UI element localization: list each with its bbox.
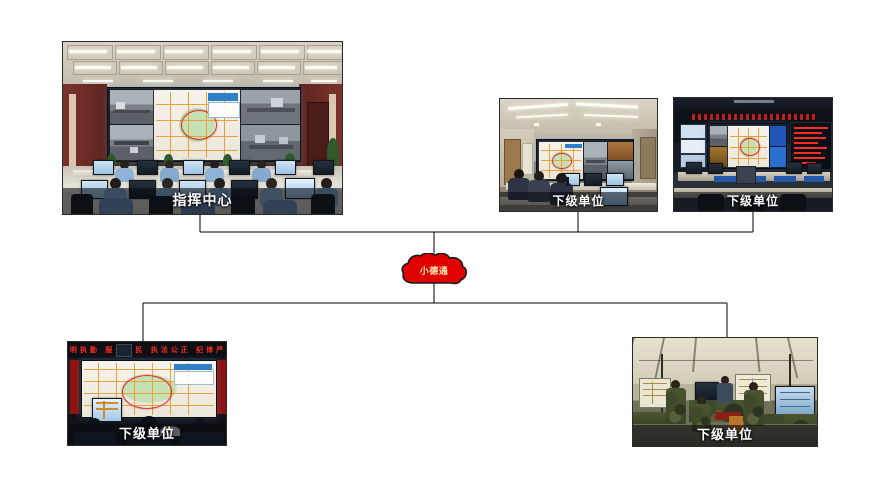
node-label-sub-unit-2: 下级单位 [674,192,832,211]
ceiling [500,99,657,133]
video-wall [107,87,301,162]
map-display [727,125,770,168]
node-label-sub-unit-4: 下级单位 [633,425,817,446]
node-label-sub-unit-1: 下级单位 [500,192,657,211]
cloud-node[interactable]: 小德通 [400,253,468,285]
field-monitor [775,386,815,416]
node-sub-unit-4[interactable]: 下级单位 [632,337,818,447]
cloud-icon [400,253,468,285]
node-sub-unit-3[interactable]: 文明执勤 服务人民 执法公正 纪律严明 [67,341,227,446]
map-display [153,89,241,161]
slogan-text: 文明执勤 服务人民 执法公正 纪律严明 [68,345,226,355]
topology-diagram: 指挥中心 [0,0,895,486]
node-label-command-center: 指挥中心 [63,188,342,214]
node-label-sub-unit-3: 下级单位 [68,424,226,445]
slogan-banner: 文明执勤 服务人民 执法公正 纪律严明 [68,342,226,358]
node-sub-unit-2[interactable]: 下级单位 [673,97,833,212]
node-sub-unit-1[interactable]: 下级单位 [499,98,658,212]
node-command-center[interactable]: 指挥中心 [62,41,343,215]
led-headline [692,114,816,120]
